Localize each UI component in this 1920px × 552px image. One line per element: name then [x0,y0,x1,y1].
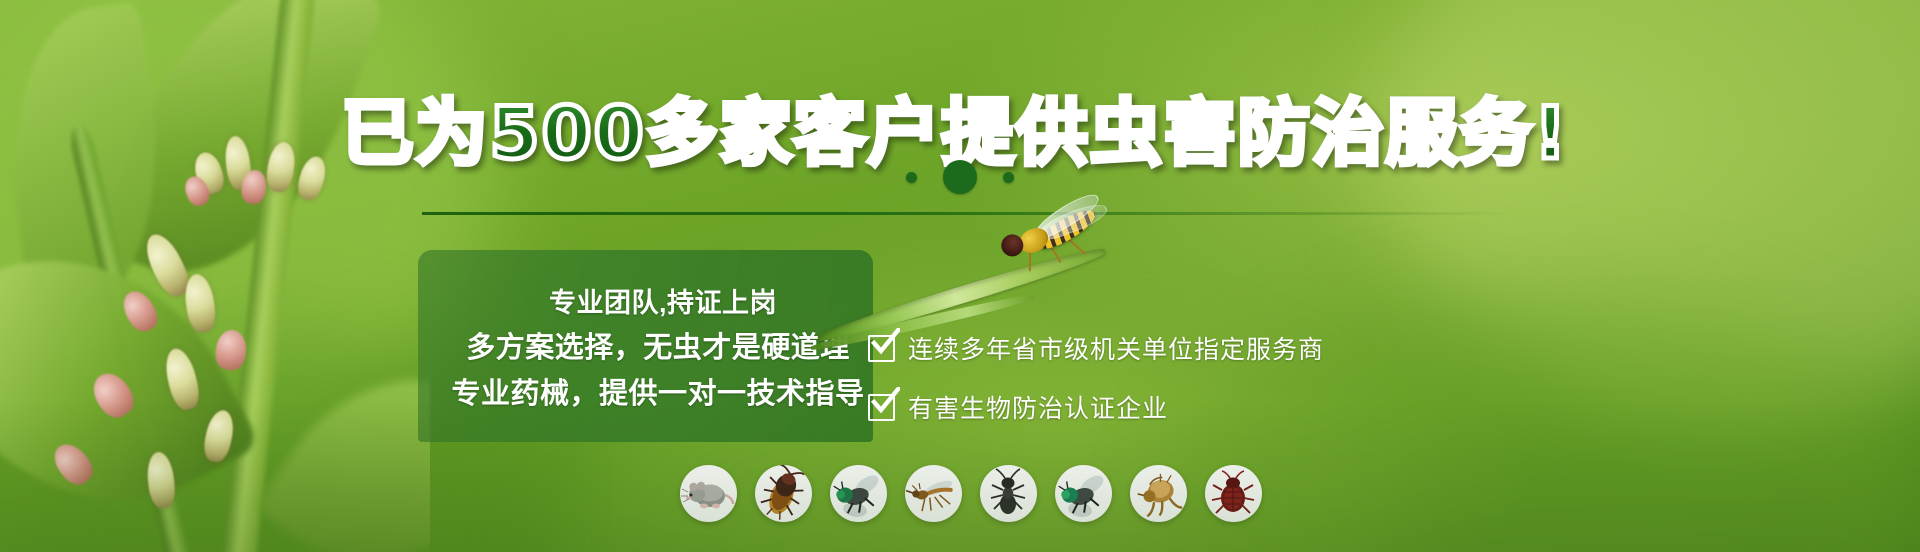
copy-line-2: 多方案选择，无虫才是硬道理 [466,324,850,366]
background-bokeh-blob [1380,0,1920,420]
cockroach-icon[interactable] [755,465,812,522]
checkbox-checked-icon [868,335,895,362]
bedbug-icon[interactable] [1205,465,1262,522]
leaf-shape [255,326,430,552]
feature-bullet: 连续多年省市级机关单位指定服务商 [868,330,1324,366]
feature-bullet-label: 有害生物防治认证企业 [908,389,1168,425]
fly-green-icon[interactable] [1055,465,1112,522]
decorative-dots [0,160,1920,194]
ant-icon[interactable] [980,465,1037,522]
feature-bullet-label: 连续多年省市级机关单位指定服务商 [908,330,1324,366]
pest-control-banner: 已为500多家客户提供虫害防治服务! 专业团队,持证上岗 多方案选择，无虫才是硬… [0,0,1920,552]
checkbox-checked-icon [868,394,895,421]
flea-icon[interactable] [1130,465,1187,522]
fly-icon[interactable] [830,465,887,522]
plant-illustration [0,0,430,552]
dot-small-icon [1003,172,1014,183]
feature-bullet-list: 连续多年省市级机关单位指定服务商 有害生物防治认证企业 [868,330,1324,425]
copy-line-3: 专业药械，提供一对一技术指导 [451,370,864,412]
mosquito-icon[interactable] [905,465,962,522]
divider-rule [422,212,1512,215]
dot-small-icon [906,172,917,183]
pest-icon-row [680,465,1262,522]
dot-large-icon [943,160,977,194]
rodent-icon[interactable] [680,465,737,522]
feature-bullet: 有害生物防治认证企业 [868,389,1324,425]
copy-line-1: 专业团队,持证上岗 [539,281,777,320]
